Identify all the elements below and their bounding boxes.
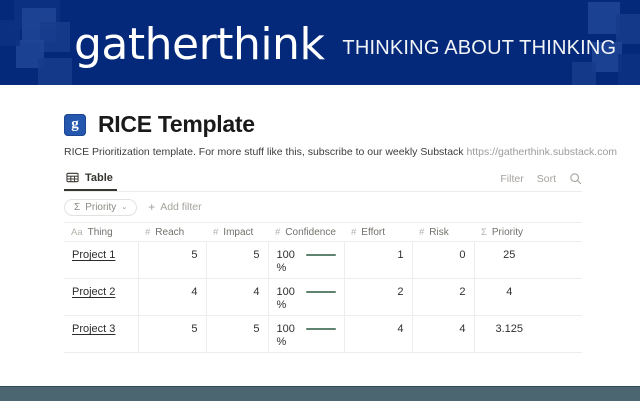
- page-root: gatherthink THINKING ABOUT THINKING g RI…: [0, 0, 640, 400]
- page-description: RICE Prioritization template. For more s…: [64, 145, 594, 159]
- column-label: Confidence: [285, 227, 336, 238]
- cell-risk[interactable]: 4: [412, 316, 474, 353]
- filter-bar: Σ Priority ⌄ + Add filter: [64, 192, 582, 222]
- confidence-value: 100%: [277, 249, 299, 275]
- page-icon: g: [64, 114, 86, 136]
- column-label: Priority: [492, 227, 523, 238]
- filter-button[interactable]: Filter: [500, 173, 523, 185]
- table-grid-icon: [66, 171, 79, 184]
- cell-priority[interactable]: 25: [474, 242, 582, 279]
- cell-impact[interactable]: 5: [206, 242, 268, 279]
- cell-confidence[interactable]: 100%: [268, 316, 344, 353]
- row-link[interactable]: Project 3: [72, 323, 115, 335]
- cell-thing[interactable]: Project 2: [64, 279, 138, 316]
- brand-tagline: THINKING ABOUT THINKING: [342, 38, 616, 58]
- column-label: Effort: [361, 227, 385, 238]
- chevron-down-icon: ⌄: [121, 203, 127, 211]
- cell-priority[interactable]: 4: [474, 279, 582, 316]
- text-type-icon: Aa: [71, 227, 83, 238]
- column-header-effort[interactable]: #Effort: [344, 223, 412, 242]
- column-header-impact[interactable]: #Impact: [206, 223, 268, 242]
- number-type-icon: #: [419, 227, 424, 238]
- cell-reach[interactable]: 5: [138, 316, 206, 353]
- page-title-row: g RICE Template: [64, 111, 255, 138]
- number-type-icon: #: [145, 227, 150, 238]
- sort-button[interactable]: Sort: [537, 173, 556, 185]
- sigma-icon: Σ: [74, 202, 80, 213]
- cell-effort[interactable]: 4: [344, 316, 412, 353]
- cell-reach[interactable]: 5: [138, 242, 206, 279]
- document-area: g RICE Template RICE Prioritization temp…: [0, 85, 640, 385]
- number-type-icon: #: [275, 227, 280, 238]
- description-text: RICE Prioritization template. For more s…: [64, 146, 466, 158]
- table-row[interactable]: Project 3 5 5 100% 4 4 3.125: [64, 316, 582, 353]
- cell-risk[interactable]: 2: [412, 279, 474, 316]
- cell-confidence[interactable]: 100%: [268, 279, 344, 316]
- filter-chip-priority[interactable]: Σ Priority ⌄: [64, 199, 137, 216]
- brand-wordmark: gatherthink: [74, 23, 324, 67]
- filter-chip-label: Priority: [85, 202, 116, 213]
- cell-risk[interactable]: 0: [412, 242, 474, 279]
- number-type-icon: #: [213, 227, 218, 238]
- confidence-progress-bar: [306, 291, 336, 293]
- column-header-risk[interactable]: #Risk: [412, 223, 474, 242]
- site-banner: gatherthink THINKING ABOUT THINKING: [0, 0, 640, 85]
- column-label: Risk: [429, 227, 448, 238]
- add-filter-label: Add filter: [160, 201, 201, 213]
- page-footer-bar: [0, 386, 640, 401]
- column-label: Impact: [223, 227, 253, 238]
- embed-tools: Filter Sort: [500, 172, 582, 191]
- confidence-value: 100%: [277, 286, 299, 312]
- confidence-value: 100%: [277, 323, 299, 349]
- confidence-progress-bar: [306, 254, 336, 256]
- confidence-progress-bar: [306, 328, 336, 330]
- cell-effort[interactable]: 1: [344, 242, 412, 279]
- page-title: RICE Template: [98, 111, 255, 138]
- add-filter-button[interactable]: + Add filter: [148, 201, 201, 213]
- table-row[interactable]: Project 2 4 4 100% 2 2 4: [64, 279, 582, 316]
- column-header-confidence[interactable]: #Confidence: [268, 223, 344, 242]
- tab-table-label: Table: [85, 172, 113, 184]
- number-type-icon: #: [351, 227, 356, 238]
- search-icon[interactable]: [569, 172, 582, 185]
- cell-reach[interactable]: 4: [138, 279, 206, 316]
- column-label: Reach: [155, 227, 184, 238]
- table-header-row: AaThing #Reach #Impact #Confidence #Effo: [64, 223, 582, 242]
- column-header-reach[interactable]: #Reach: [138, 223, 206, 242]
- row-link[interactable]: Project 1: [72, 249, 115, 261]
- cell-thing[interactable]: Project 1: [64, 242, 138, 279]
- column-header-priority[interactable]: ΣPriority: [474, 223, 582, 242]
- embed-tabbar: Table Filter Sort: [64, 165, 582, 192]
- tab-table[interactable]: Table: [64, 171, 117, 191]
- plus-icon: +: [148, 202, 155, 212]
- cell-impact[interactable]: 5: [206, 316, 268, 353]
- cell-priority[interactable]: 3.125: [474, 316, 582, 353]
- formula-type-icon: Σ: [481, 227, 487, 238]
- cell-thing[interactable]: Project 3: [64, 316, 138, 353]
- cell-confidence[interactable]: 100%: [268, 242, 344, 279]
- column-label: Thing: [88, 227, 113, 238]
- row-link[interactable]: Project 2: [72, 286, 115, 298]
- cell-effort[interactable]: 2: [344, 279, 412, 316]
- substack-link[interactable]: https://gatherthink.substack.com: [466, 146, 617, 158]
- table-row[interactable]: Project 1 5 5 100% 1 0 25: [64, 242, 582, 279]
- cell-impact[interactable]: 4: [206, 279, 268, 316]
- notion-embed: Table Filter Sort Σ Pri: [64, 165, 582, 353]
- rice-table: AaThing #Reach #Impact #Confidence #Effo: [64, 222, 582, 353]
- column-header-thing[interactable]: AaThing: [64, 223, 138, 242]
